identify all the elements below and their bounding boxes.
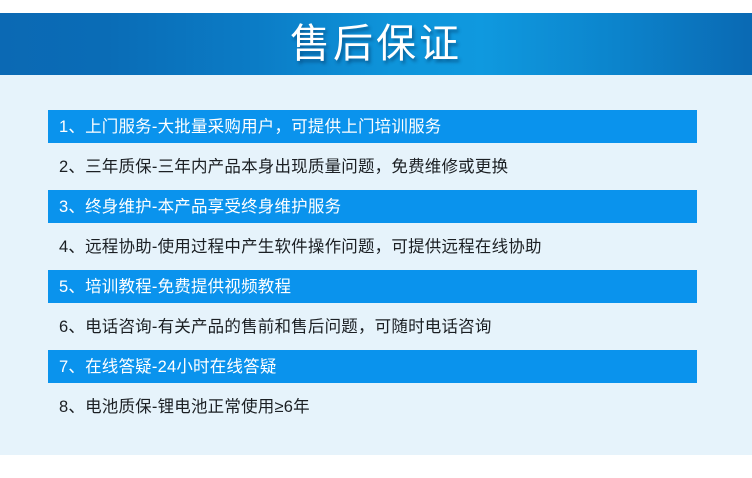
list-item: 7、在线答疑-24小时在线答疑 bbox=[48, 350, 697, 383]
after-sales-guarantee-page: 售后保证 1、上门服务-大批量采购用户，可提供上门培训服务 2、三年质保-三年内… bbox=[0, 0, 752, 478]
footer-spacer bbox=[0, 455, 752, 478]
guarantee-content-panel: 1、上门服务-大批量采购用户，可提供上门培训服务 2、三年质保-三年内产品本身出… bbox=[0, 75, 752, 455]
list-item-label: 5、培训教程-免费提供视频教程 bbox=[48, 277, 291, 297]
list-item: 5、培训教程-免费提供视频教程 bbox=[48, 270, 697, 303]
list-item-label: 4、远程协助-使用过程中产生软件操作问题，可提供远程在线协助 bbox=[48, 237, 542, 257]
page-title: 售后保证 bbox=[290, 22, 462, 66]
list-item-label: 3、终身维护-本产品享受终身维护服务 bbox=[48, 197, 341, 217]
list-item-label: 1、上门服务-大批量采购用户，可提供上门培训服务 bbox=[48, 117, 441, 137]
list-item-label: 6、电话咨询-有关产品的售前和售后问题，可随时电话咨询 bbox=[48, 317, 492, 337]
list-item-label: 8、电池质保-锂电池正常使用≥6年 bbox=[48, 397, 310, 417]
list-item-label: 2、三年质保-三年内产品本身出现质量问题，免费维修或更换 bbox=[48, 157, 508, 177]
page-header-banner: 售后保证 bbox=[0, 13, 752, 75]
list-item: 2、三年质保-三年内产品本身出现质量问题，免费维修或更换 bbox=[48, 150, 697, 183]
list-item: 3、终身维护-本产品享受终身维护服务 bbox=[48, 190, 697, 223]
list-item: 8、电池质保-锂电池正常使用≥6年 bbox=[48, 390, 697, 423]
list-item-label: 7、在线答疑-24小时在线答疑 bbox=[48, 357, 277, 377]
list-item: 6、电话咨询-有关产品的售前和售后问题，可随时电话咨询 bbox=[48, 310, 697, 343]
list-item: 1、上门服务-大批量采购用户，可提供上门培训服务 bbox=[48, 110, 697, 143]
guarantee-list: 1、上门服务-大批量采购用户，可提供上门培训服务 2、三年质保-三年内产品本身出… bbox=[48, 110, 697, 430]
list-item: 4、远程协助-使用过程中产生软件操作问题，可提供远程在线协助 bbox=[48, 230, 697, 263]
